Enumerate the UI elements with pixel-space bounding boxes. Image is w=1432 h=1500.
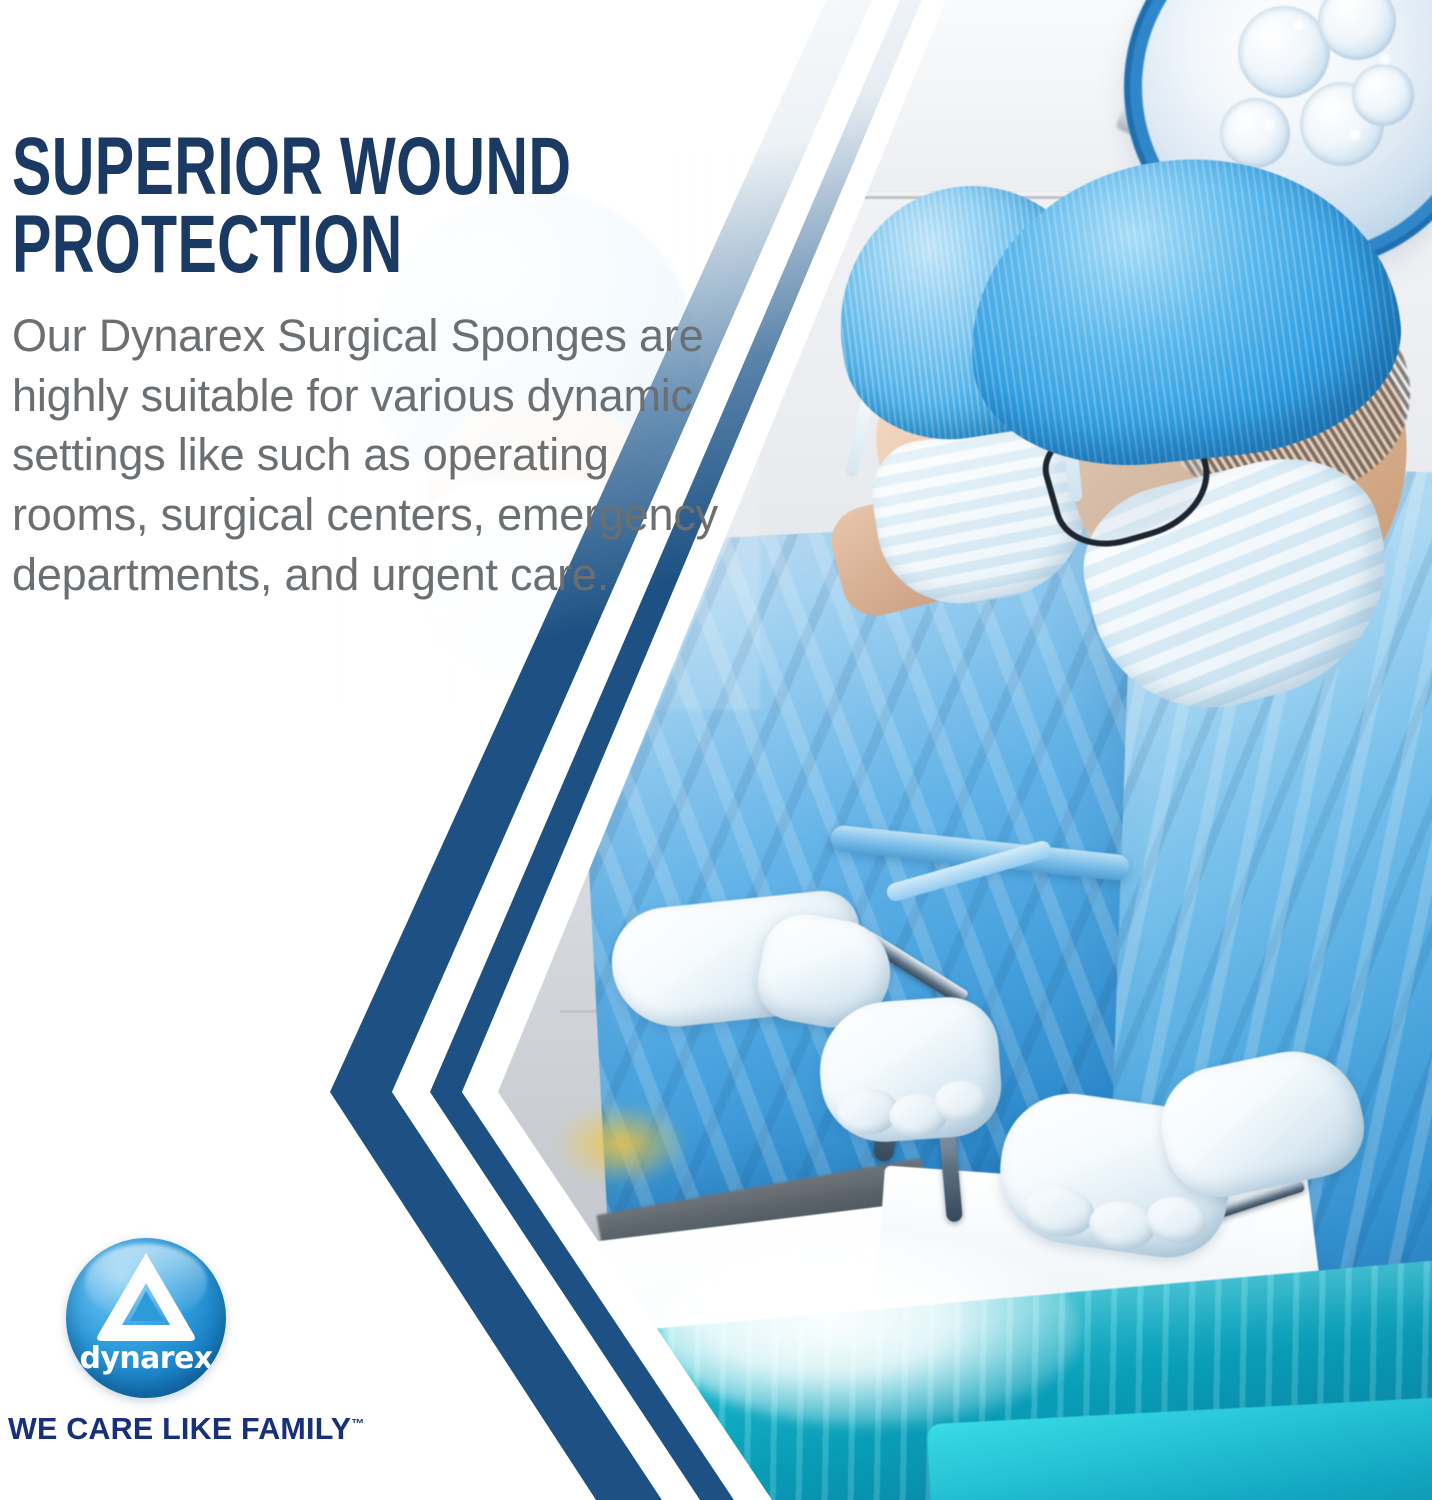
logo-tagline-text: WE CARE LIKE FAMILY	[8, 1412, 351, 1446]
light-highlight	[660, 1236, 1080, 1426]
lamp-highlight	[1378, 52, 1392, 66]
logo-sphere: dynarex	[66, 1238, 226, 1398]
lamp-highlight	[1262, 118, 1276, 132]
lamp-highlight	[1292, 18, 1306, 32]
copy-block: SUPERIOR WOUND PROTECTION Our Dynarex Su…	[12, 128, 732, 605]
marketing-poster: SUPERIOR WOUND PROTECTION Our Dynarex Su…	[0, 0, 1432, 1500]
trademark-icon: ™	[351, 1416, 364, 1431]
background-equipment	[556, 1104, 686, 1184]
logo-wordmark: dynarex	[66, 1341, 226, 1376]
lamp-highlight	[1348, 128, 1362, 142]
dynarex-triangle-icon	[90, 1247, 202, 1352]
lamp-cell	[1352, 64, 1414, 126]
page-title: SUPERIOR WOUND PROTECTION	[12, 128, 732, 284]
logo-tagline: WE CARE LIKE FAMILY™	[8, 1412, 338, 1447]
body-paragraph: Our Dynarex Surgical Sponges are highly …	[12, 306, 722, 605]
dynarex-logo: dynarex WE CARE LIKE FAMILY™	[8, 1238, 338, 1447]
lamp-cell	[1220, 98, 1290, 168]
lamp-cell	[1238, 6, 1330, 98]
glove-finger	[1143, 1193, 1209, 1247]
